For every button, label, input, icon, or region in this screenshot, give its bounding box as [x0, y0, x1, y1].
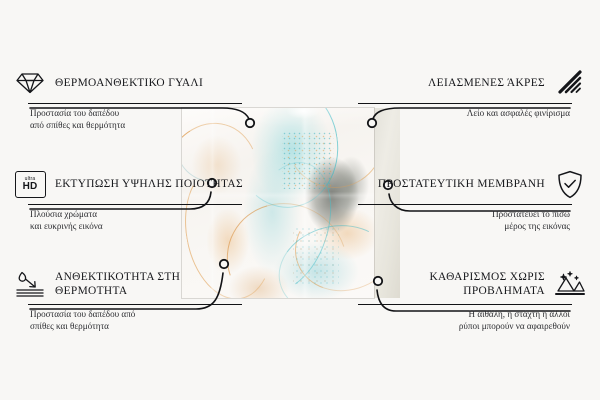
feature-description: Προστασία του δαπέδου από σπίθες και θερ… [30, 309, 246, 332]
ink-speckle [293, 226, 339, 288]
feature-protective-membrane: ΠΡΟΣΤΑΤΕΥΤΙΚΗ ΜΕΜΒΡΑΝΗ Προστατεύει το πί… [354, 167, 586, 232]
flame-deflect-icon [14, 268, 46, 300]
ultra-hd-icon: ultra HD [14, 168, 46, 200]
feature-polished-edges: ΛΕΙΑΣΜΕΝΕΣ ΆΚΡΕΣ Λείο και ασφαλές φινίρι… [354, 66, 586, 120]
feature-header: ΛΕΙΑΣΜΕΝΕΣ ΆΚΡΕΣ [354, 66, 586, 100]
feature-description-line2: ρύποι μπορούν να αφαιρεθούν [354, 321, 570, 333]
feature-underline [28, 304, 242, 305]
feature-header: ΑΝΘΕΚΤΙΚΟΤΗΤΑ ΣΤΗ ΘΕΡΜΟΤΗΤΑ [14, 267, 246, 301]
feature-header: ΘΕΡΜΟΑΝΘΕΚΤΙΚΟ ΓΥΑΛΙ [14, 66, 246, 100]
feature-description: Πλούσια χρώματα και ευκρινής εικόνα [30, 209, 246, 232]
feature-description: Προστατεύει το πίσω μέρος της εικόνας [354, 209, 570, 232]
feature-header: ΠΡΟΣΤΑΤΕΥΤΙΚΗ ΜΕΜΒΡΑΝΗ [354, 167, 586, 201]
feature-description-line2: από σπίθες και θερμότητα [30, 120, 246, 132]
sparkle-wipe-icon [554, 268, 586, 300]
diamond-icon [14, 67, 46, 99]
feature-description-line2: σπίθες και θερμότητα [30, 321, 246, 333]
shield-check-icon [554, 168, 586, 200]
feature-description-line2: μέρος της εικόνας [354, 221, 570, 233]
feature-header: ΚΑΘΑΡΙΣΜΟΣ ΧΩΡΙΣ ΠΡΟΒΛΗΜΑΤΑ [354, 267, 586, 301]
feature-description-line2: και ευκρινής εικόνα [30, 221, 246, 233]
feature-heat-resistant-glass: ΘΕΡΜΟΑΝΘΕΚΤΙΚΟ ΓΥΑΛΙ Προστασία του δαπέδ… [14, 66, 246, 131]
feature-description-line1: Η αιθάλη, η στάχτη ή άλλοι [354, 309, 570, 321]
ultra-hd-main-text: HD [23, 182, 38, 192]
feature-description-line1: Προστατεύει το πίσω [354, 209, 570, 221]
ultra-hd-badge: ultra HD [15, 171, 46, 198]
feature-underline [358, 304, 572, 305]
feature-description: Προστασία του δαπέδου από σπίθες και θερ… [30, 108, 246, 131]
feature-underline [358, 204, 572, 205]
product-feature-infographic: ΘΕΡΜΟΑΝΘΕΚΤΙΚΟ ΓΥΑΛΙ Προστασία του δαπέδ… [0, 0, 600, 400]
feature-description-line1: Προστασία του δαπέδου [30, 108, 246, 120]
feature-title: ΕΚΤΥΠΩΣΗ ΥΨΗΛΗΣ ΠΟΙΟΤΗΤΑΣ [55, 177, 243, 191]
feature-description-line1: Πλούσια χρώματα [30, 209, 246, 221]
feature-underline [28, 204, 242, 205]
diagonal-lines-icon [554, 67, 586, 99]
feature-title: ΚΑΘΑΡΙΣΜΟΣ ΧΩΡΙΣ ΠΡΟΒΛΗΜΑΤΑ [354, 270, 545, 298]
feature-title: ΠΡΟΣΤΑΤΕΥΤΙΚΗ ΜΕΜΒΡΑΝΗ [378, 177, 545, 191]
feature-description-line1: Προστασία του δαπέδου από [30, 309, 246, 321]
feature-title: ΑΝΘΕΚΤΙΚΟΤΗΤΑ ΣΤΗ ΘΕΡΜΟΤΗΤΑ [55, 270, 246, 298]
feature-description-line1: Λείο και ασφαλές φινίρισμα [354, 108, 570, 120]
feature-header: ultra HD ΕΚΤΥΠΩΣΗ ΥΨΗΛΗΣ ΠΟΙΟΤΗΤΑΣ [14, 167, 246, 201]
ink-speckle [282, 131, 334, 189]
feature-title: ΘΕΡΜΟΑΝΘΕΚΤΙΚΟ ΓΥΑΛΙ [55, 76, 203, 90]
feature-underline [28, 103, 242, 104]
feature-heat-durability: ΑΝΘΕΚΤΙΚΟΤΗΤΑ ΣΤΗ ΘΕΡΜΟΤΗΤΑ Προστασία το… [14, 267, 246, 332]
feature-description: Η αιθάλη, η στάχτη ή άλλοι ρύποι μπορούν… [354, 309, 570, 332]
feature-title: ΛΕΙΑΣΜΕΝΕΣ ΆΚΡΕΣ [428, 76, 545, 90]
feature-high-quality-print: ultra HD ΕΚΤΥΠΩΣΗ ΥΨΗΛΗΣ ΠΟΙΟΤΗΤΑΣ Πλούσ… [14, 167, 246, 232]
feature-easy-cleaning: ΚΑΘΑΡΙΣΜΟΣ ΧΩΡΙΣ ΠΡΟΒΛΗΜΑΤΑ Η αιθάλη, η … [354, 267, 586, 332]
feature-underline [358, 103, 572, 104]
feature-description: Λείο και ασφαλές φινίρισμα [354, 108, 570, 120]
